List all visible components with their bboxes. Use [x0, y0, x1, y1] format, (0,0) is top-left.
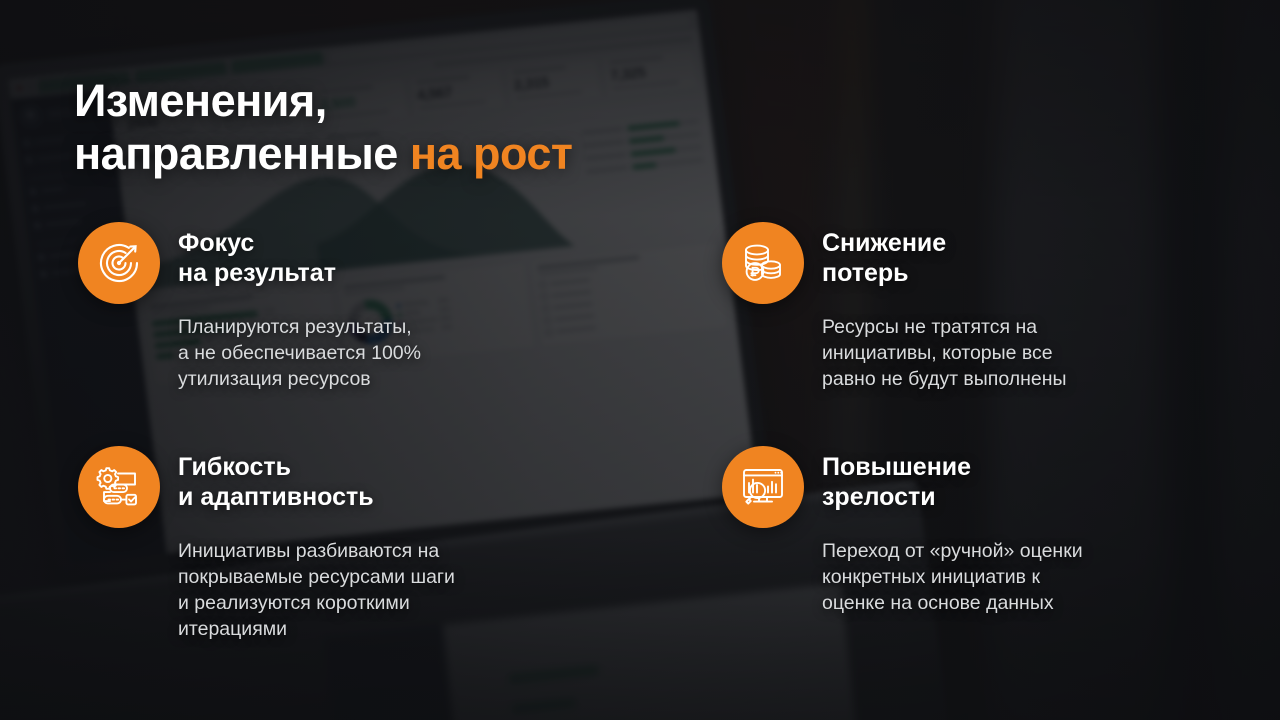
benefit-card-loss-reduction: Снижение потерь Ресурсы не тратятся на и… [722, 222, 1192, 392]
workflow-gear-check-icon [78, 446, 160, 528]
benefit-card-maturity: Повышение зрелости Переход от «ручной» о… [722, 446, 1192, 616]
benefit-card-flexibility: Гибкость и адаптивность Инициативы разби… [78, 446, 598, 643]
benefit-card-header: Фокус на результат [78, 222, 598, 304]
benefit-card-body: Ресурсы не тратятся на инициативы, котор… [822, 314, 1192, 392]
title-line-2-plain: направленные [74, 128, 410, 179]
coins-ruble-icon [722, 222, 804, 304]
page-title: Изменения, направленные на рост [74, 74, 774, 180]
presentation-slide: 2500 1.51Sec 2,500 [0, 0, 1280, 720]
benefit-card-title: Повышение зрелости [822, 446, 971, 512]
benefit-card-body: Переход от «ручной» оценки конкретных ин… [822, 538, 1192, 616]
benefit-card-header: Повышение зрелости [722, 446, 1192, 528]
benefit-card-header: Снижение потерь [722, 222, 1192, 304]
monitor-chart-search-icon [722, 446, 804, 528]
benefit-card-body: Планируются результаты, а не обеспечивае… [178, 314, 598, 392]
target-arrow-icon [78, 222, 160, 304]
benefit-card-title: Фокус на результат [178, 222, 336, 288]
benefit-card-title: Гибкость и адаптивность [178, 446, 374, 512]
benefit-card-header: Гибкость и адаптивность [78, 446, 598, 528]
benefit-card-focus-on-result: Фокус на результат Планируются результат… [78, 222, 598, 392]
title-line-2-accent: на рост [410, 128, 573, 179]
title-line-1: Изменения, [74, 75, 327, 126]
benefit-card-body: Инициативы разбиваются на покрываемые ре… [178, 538, 598, 643]
benefit-card-title: Снижение потерь [822, 222, 946, 288]
slide-content: Изменения, направленные на рост [0, 0, 1280, 720]
